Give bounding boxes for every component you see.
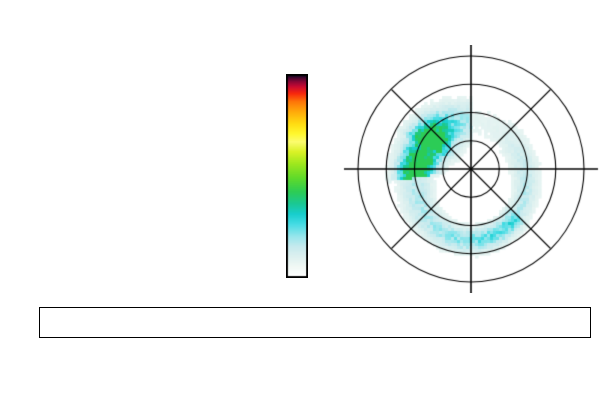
geographic-image-panel[interactable]	[10, 45, 278, 290]
timeseries-plot[interactable]	[39, 307, 591, 338]
colorbar	[286, 74, 308, 278]
header-bar	[0, 4, 600, 28]
colorbar-gradient	[286, 74, 308, 278]
apex-polar-panel[interactable]	[340, 45, 600, 293]
timeseries-curve	[40, 308, 590, 337]
status-footer	[0, 362, 600, 400]
